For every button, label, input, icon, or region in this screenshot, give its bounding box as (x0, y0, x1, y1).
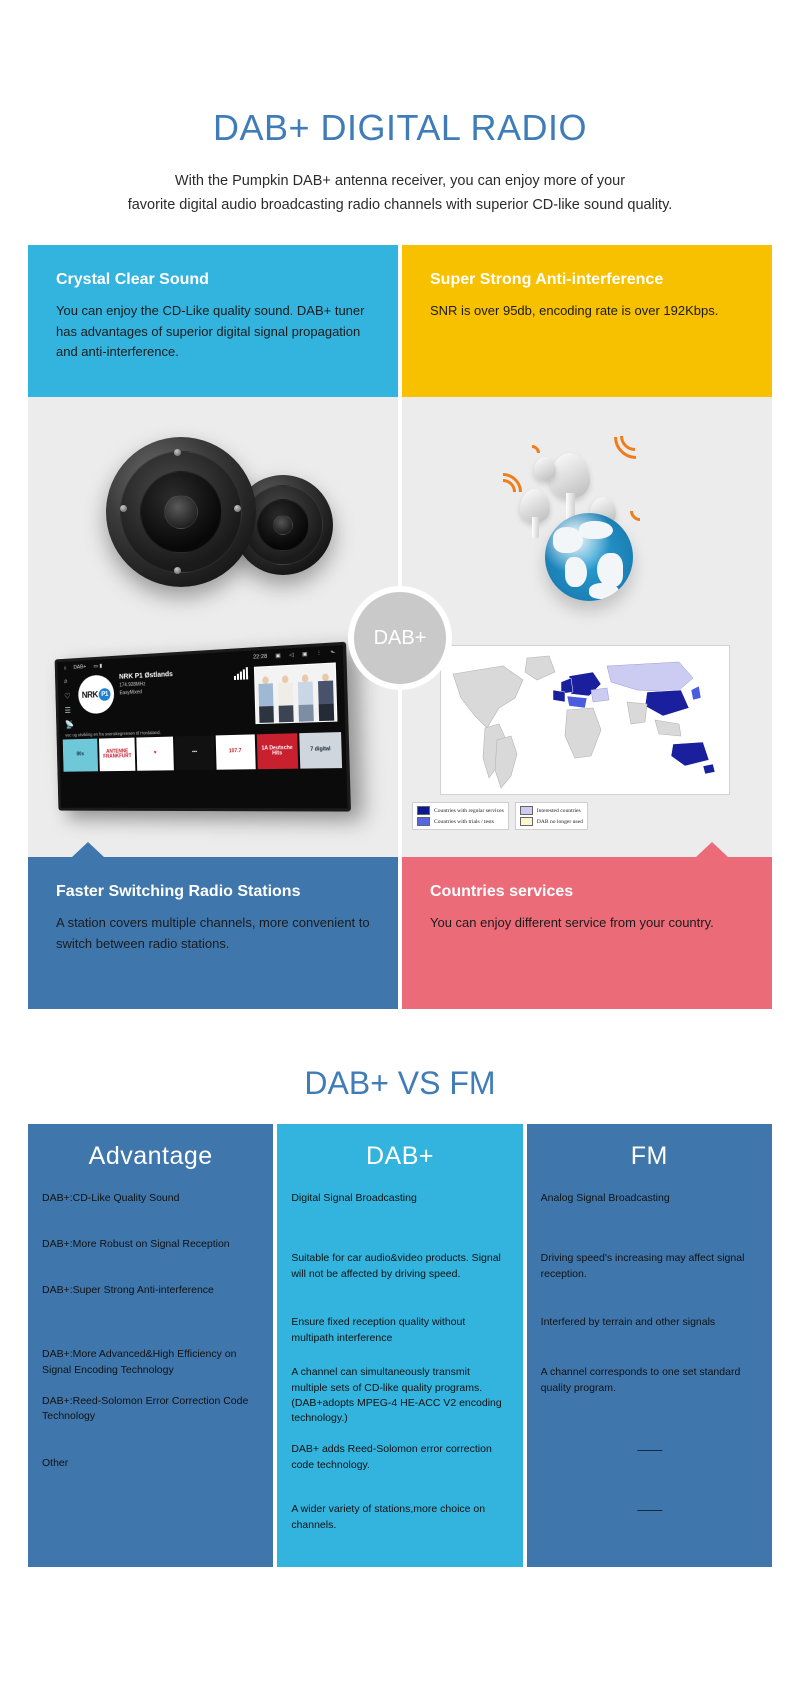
legend-item: Interested countries (520, 806, 583, 815)
antenna-icon[interactable]: 📡 (65, 721, 74, 730)
station-artwork (254, 663, 338, 725)
table-cell: DAB+ adds Reed-Solomon error correction … (277, 1442, 522, 1486)
signal-wave-icon (626, 497, 654, 525)
page-title: DAB+ DIGITAL RADIO (0, 0, 800, 148)
feature-body-faster-switching: A station covers multiple channels, more… (56, 913, 370, 953)
panel-faster-switching-radio-stations: Faster Switching Radio Stations A statio… (28, 857, 398, 1009)
screenshot-icon: ▣ (275, 653, 281, 660)
panel-notch-up-icon (72, 842, 104, 857)
legend-item: Countries with trials / tests (417, 817, 504, 826)
world-coverage-map (440, 645, 730, 795)
home-icon: ⌂ (63, 666, 66, 672)
preset-button[interactable]: 107.7 (215, 735, 255, 770)
dab-coverage-map-illustration: Countries with regular services Countrie… (402, 627, 772, 857)
feature-heading-countries-services: Countries services (430, 883, 744, 901)
feature-body-crystal-clear-sound: You can enjoy the CD-Like quality sound.… (56, 301, 370, 361)
map-legend-column-right: Interested countries DAB no longer used (515, 802, 588, 830)
feature-grid: DAB+ Crystal Clear Sound You can enjoy t… (28, 245, 772, 1009)
table-cell: DAB+:More Advanced&High Efficiency on Si… (28, 1347, 273, 1377)
table-cell: A wider variety of stations,more choice … (277, 1502, 522, 1532)
legend-item: Countries with regular services (417, 806, 504, 815)
table-cell: DAB+:More Robust on Signal Reception (28, 1237, 273, 1267)
table-cell: Ensure fixed reception quality without m… (277, 1315, 522, 1349)
preset-button[interactable]: ♥ (137, 737, 175, 771)
table-cell: A channel can simultaneously transmit mu… (277, 1365, 522, 1426)
table-cell: DAB+:Reed-Solomon Error Correction Code … (28, 1394, 273, 1440)
station-logo-text: NRK (82, 690, 98, 700)
feature-cell-faster-switching: Faster Switching Radio Stations A statio… (28, 857, 398, 1009)
dab-plus-center-badge: DAB+ (348, 586, 452, 690)
column-header-advantage: Advantage (28, 1124, 273, 1191)
satellite-dish-icon (534, 457, 556, 481)
map-legend: Countries with regular services Countrie… (412, 802, 722, 830)
dab-plus-badge-label: DAB+ (374, 627, 427, 650)
globe-icon (545, 513, 633, 601)
large-speaker-icon (106, 437, 256, 587)
feature-cell-crystal-clear-sound: Crystal Clear Sound You can enjoy the CD… (28, 245, 398, 397)
station-metadata: NRK P1 Østlands 174.928MHz EasyMixed (119, 669, 229, 729)
table-cell: Suitable for car audio&video products. S… (277, 1251, 522, 1299)
head-unit-source-label: DAB+ (73, 665, 86, 671)
panel-countries-services: Countries services You can enjoy differe… (402, 857, 772, 1009)
table-cell: Other (28, 1456, 273, 1486)
comparison-title: DAB+ VS FM (0, 1065, 800, 1102)
legend-label: Countries with regular services (434, 808, 504, 814)
legend-label: Interested countries (537, 808, 581, 814)
panel-notch-up-icon (696, 842, 728, 857)
head-unit-preset-row: 80s ANTENNE FRANKFURT ♥ ▪▪▪ 107.7 1A Deu… (59, 732, 346, 772)
preset-button[interactable]: 7 digital (299, 733, 342, 770)
panel-crystal-clear-sound: Crystal Clear Sound You can enjoy the CD… (28, 245, 398, 397)
overflow-menu-icon: ⋮ (316, 651, 322, 658)
feature-body-countries-services: You can enjoy different service from you… (430, 913, 744, 933)
legend-label: DAB no longer used (537, 819, 583, 825)
feature-row-bottom-text: Faster Switching Radio Stations A statio… (28, 857, 772, 1009)
legend-swatch (520, 806, 533, 815)
subtitle-line-2: favorite digital audio broadcasting radi… (58, 194, 742, 218)
feature-heading-crystal-clear-sound: Crystal Clear Sound (56, 271, 370, 289)
table-cell: —— (527, 1501, 772, 1531)
feature-cell-speaker-image (28, 397, 398, 627)
legend-label: Countries with trials / tests (434, 819, 494, 825)
head-unit-clock: 22:28 (253, 654, 267, 661)
feature-cell-super-strong-anti-interference: Super Strong Anti-interference SNR is ov… (402, 245, 772, 397)
car-head-unit-illustration: ⌂ DAB+ ▭ ▮ 22:28 ▣ ◁ ▣ ⋮ ⬑ ⌕ (28, 627, 398, 857)
favorite-heart-icon[interactable]: ♡ (64, 692, 73, 701)
legend-item: DAB no longer used (520, 817, 583, 826)
legend-swatch (417, 817, 430, 826)
legend-swatch (520, 817, 533, 826)
sd-card-icon: ▭ ▮ (93, 664, 102, 670)
station-logo-badge: P1 (99, 688, 111, 701)
feature-heading-anti-interference: Super Strong Anti-interference (430, 271, 744, 289)
preset-button[interactable]: 80s (63, 739, 98, 772)
feature-cell-countries-services: Countries services You can enjoy differe… (402, 857, 772, 1009)
satellite-globe-illustration (402, 397, 772, 627)
map-legend-column-left: Countries with regular services Countrie… (412, 802, 509, 830)
table-cell: Interfered by terrain and other signals (527, 1315, 772, 1349)
feature-row-top-text: Crystal Clear Sound You can enjoy the CD… (28, 245, 772, 397)
comparison-table: Advantage DAB+:CD-Like Quality Sound DAB… (28, 1124, 772, 1566)
preset-button[interactable]: 1A Deutsche Hits (256, 734, 298, 770)
feature-cell-coverage-map-image: Countries with regular services Countrie… (402, 627, 772, 857)
column-header-fm: FM (527, 1124, 772, 1191)
feature-heading-faster-switching: Faster Switching Radio Stations (56, 883, 370, 901)
back-icon: ⬑ (330, 650, 335, 657)
preset-button[interactable]: ANTENNE FRANKFURT (99, 738, 136, 772)
apps-icon: ▣ (302, 652, 308, 659)
subtitle-line-1: With the Pumpkin DAB+ antenna receiver, … (58, 170, 742, 194)
table-cell: Driving speed's increasing may affect si… (527, 1251, 772, 1299)
column-header-dab-plus: DAB+ (277, 1124, 522, 1191)
table-cell: DAB+:Super Strong Anti-interference (28, 1283, 273, 1331)
station-list-icon[interactable]: ☰ (65, 706, 74, 715)
feature-body-anti-interference: SNR is over 95db, encoding rate is over … (430, 301, 744, 321)
comparison-column-advantage: Advantage DAB+:CD-Like Quality Sound DAB… (28, 1124, 273, 1566)
search-icon[interactable]: ⌕ (64, 677, 73, 687)
table-cell: —— (527, 1441, 772, 1485)
signal-wave-icon (605, 406, 667, 468)
table-cell: DAB+:CD-Like Quality Sound (28, 1191, 273, 1221)
legend-swatch (417, 806, 430, 815)
world-map-svg (441, 646, 730, 795)
speaker-illustration (28, 397, 398, 627)
feature-cell-satellite-globe-image (402, 397, 772, 627)
comparison-column-fm: FM Analog Signal Broadcasting Driving sp… (527, 1124, 772, 1566)
volume-icon: ◁ (289, 653, 294, 659)
feature-cell-head-unit-image: ⌂ DAB+ ▭ ▮ 22:28 ▣ ◁ ▣ ⋮ ⬑ ⌕ (28, 627, 398, 857)
panel-super-strong-anti-interference: Super Strong Anti-interference SNR is ov… (402, 245, 772, 397)
car-radio-screen: ⌂ DAB+ ▭ ▮ 22:28 ▣ ◁ ▣ ⋮ ⬑ ⌕ (55, 642, 351, 812)
table-cell: Digital Signal Broadcasting (277, 1191, 522, 1235)
page-subtitle: With the Pumpkin DAB+ antenna receiver, … (0, 170, 800, 218)
signal-strength-icon (234, 668, 248, 681)
head-unit-side-rail: ⌕ ♡ ☰ 📡 (64, 677, 74, 731)
preset-button[interactable]: ▪▪▪ (175, 736, 214, 771)
table-cell: A channel corresponds to one set standar… (527, 1365, 772, 1425)
station-logo: NRKP1 (78, 675, 115, 715)
comparison-column-dab-plus: DAB+ Digital Signal Broadcasting Suitabl… (277, 1124, 522, 1566)
table-cell: Analog Signal Broadcasting (527, 1191, 772, 1235)
